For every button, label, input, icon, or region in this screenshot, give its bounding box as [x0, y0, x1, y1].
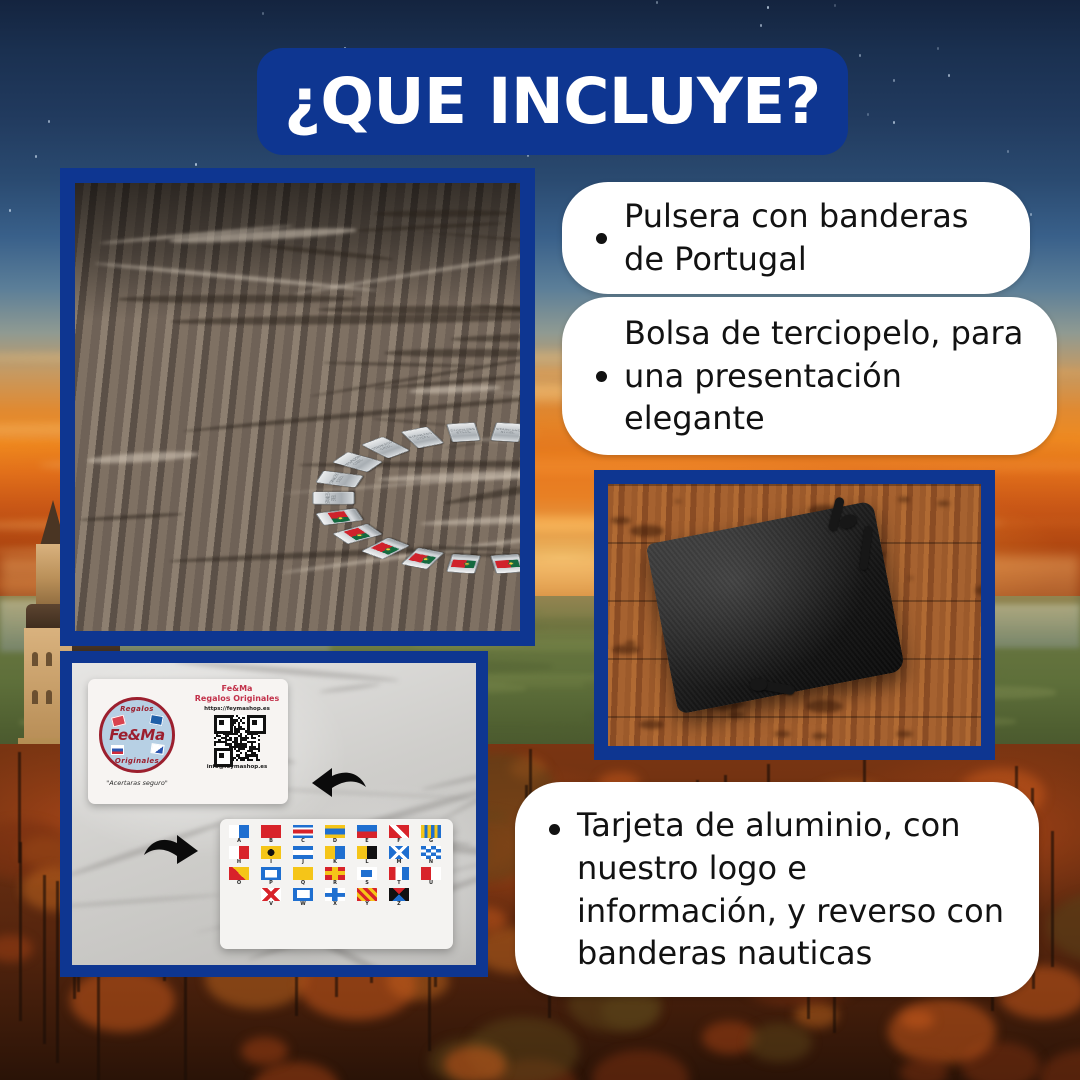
link-engraving: STAINLESS STEEL — [449, 428, 477, 435]
flag-symbol — [293, 867, 313, 880]
flag-letter: P — [269, 881, 273, 886]
bullet-text-card: Tarjeta de aluminio, con nuestro logo e … — [577, 804, 1013, 974]
flag-symbol — [325, 825, 345, 838]
portugal-flag-icon — [408, 553, 436, 564]
flag-cell-g: G — [417, 825, 445, 844]
flag-row: OPQRSTU — [225, 867, 448, 886]
star-icon — [834, 4, 836, 7]
flag-symbol — [389, 825, 409, 838]
lima-flag-icon — [357, 846, 377, 859]
flag-cell-u: U — [417, 867, 445, 886]
flag-symbol — [325, 867, 345, 880]
flag-letter: E — [365, 839, 368, 844]
flag-letter: M — [397, 860, 402, 865]
alfa-flag-icon — [229, 825, 249, 838]
bracelet-link — [400, 548, 444, 570]
flag-cell-j: J — [289, 846, 317, 865]
bullet-dot — [549, 824, 560, 835]
qr-module — [247, 737, 249, 739]
qr-module — [258, 739, 260, 741]
uniform-flag-icon — [421, 867, 441, 880]
qr-module — [258, 750, 260, 752]
flag-cell-w: W — [289, 888, 317, 907]
wood-grain — [384, 349, 520, 358]
india-flag-icon — [261, 846, 281, 859]
kilo-flag-icon — [325, 846, 345, 859]
link-engraving: STAINLESS STEEL — [493, 428, 520, 435]
star-icon — [1007, 150, 1009, 153]
golf-flag-icon — [421, 825, 441, 838]
qr-module — [242, 717, 244, 719]
leaf-clump — [592, 1050, 689, 1080]
photo-frame-card[interactable]: Regalos Fe&Ma Originales "Acertaras segu… — [60, 651, 488, 977]
wood-grain — [374, 209, 511, 217]
flag-symbol — [229, 846, 249, 859]
star-icon — [9, 209, 11, 212]
flag-symbol — [293, 888, 313, 901]
qr-module — [242, 748, 244, 750]
flag-letter: Y — [365, 902, 369, 907]
flag-letter: T — [397, 881, 400, 886]
wood-knot — [675, 500, 681, 502]
flag-cell-x: X — [321, 888, 349, 907]
logo-name: Fe&Ma — [109, 726, 164, 744]
flag-cell-b: B — [257, 825, 285, 844]
leaf-clump — [747, 1023, 812, 1062]
flag-letter: Q — [301, 881, 305, 886]
arrow-right-icon — [140, 829, 202, 867]
business-card-brand-line1: Fe&Ma — [222, 684, 253, 694]
flag-letter: G — [429, 839, 433, 844]
business-card-brand-line2: Regalos Originales — [195, 694, 279, 704]
wood-grain — [117, 295, 356, 304]
flag-symbol — [293, 825, 313, 838]
logo-bottom-arc: Originales — [102, 757, 172, 765]
flag-letter: N — [429, 860, 433, 865]
qr-module — [242, 759, 244, 761]
wood-knot — [639, 720, 664, 729]
flag-cell-q: Q — [289, 867, 317, 886]
bracelet-link: STAINLESS STEEL — [361, 436, 410, 458]
bracelet-link: STAINLESS STEEL — [446, 422, 481, 442]
leaf-clump — [241, 1037, 288, 1065]
page-title: ¿QUE INCLUYE? — [284, 70, 820, 133]
flag-letter: I — [270, 860, 272, 865]
tree-trunk — [43, 875, 46, 1043]
card-photo: Regalos Fe&Ma Originales "Acertaras segu… — [72, 663, 476, 965]
juliett-flag-icon — [293, 846, 313, 859]
star-icon — [867, 113, 869, 116]
logo-mini-flag-tricolor — [111, 745, 124, 755]
link-engraving: STAINLESS STEEL — [371, 441, 399, 453]
flag-cell-r: R — [321, 867, 349, 886]
business-card-url: https://feymashop.es — [204, 706, 270, 712]
flag-letter: C — [301, 839, 305, 844]
marble-vein — [319, 682, 381, 694]
flag-row: HIJKLMN — [225, 846, 448, 865]
flag-letter: L — [365, 860, 368, 865]
qr-module — [258, 759, 260, 761]
wood-knot — [612, 645, 640, 655]
qr-module — [236, 759, 238, 761]
november-flag-icon — [421, 846, 441, 859]
flag-cell-d: D — [321, 825, 349, 844]
flag-symbol — [261, 867, 281, 880]
wood-grain — [94, 261, 378, 293]
wood-knot — [748, 519, 754, 521]
flag-cell-t: T — [385, 867, 413, 886]
bullet-pill-pouch: Bolsa de terciopelo, para una presentaci… — [562, 297, 1057, 455]
flag-letter: S — [365, 881, 369, 886]
flag-cell-f: F — [385, 825, 413, 844]
portugal-flag-icon — [343, 528, 370, 541]
tree-trunk — [1051, 831, 1054, 966]
flag-letter: F — [397, 839, 400, 844]
victor-flag-icon — [261, 888, 281, 901]
wood-knot — [812, 733, 828, 739]
business-card-info-side: Fe&Ma Regalos Originales https://feymash… — [186, 679, 288, 804]
arrow-left-icon — [308, 763, 370, 801]
qr-finder-pattern — [247, 715, 266, 734]
flag-symbol — [357, 825, 377, 838]
wood-grain — [260, 243, 394, 262]
qr-module — [240, 752, 242, 754]
flag-symbol — [357, 888, 377, 901]
wood-knot — [806, 700, 843, 713]
leaf-clump — [0, 935, 33, 962]
flag-cell-p: P — [257, 867, 285, 886]
wood-grain — [356, 221, 501, 232]
infographic-canvas: ¿QUE INCLUYE? STAINLESS STEELSTAINLESS S… — [0, 0, 1080, 1080]
flag-cell-y: Y — [353, 888, 381, 907]
qr-code-icon — [214, 715, 260, 761]
quebec-flag-icon — [293, 867, 313, 880]
flag-cell-o: O — [225, 867, 253, 886]
flag-letter: D — [333, 839, 337, 844]
leaf-clump — [1039, 1049, 1080, 1080]
flag-letter: K — [333, 860, 337, 865]
logo-mini-flag-scotland — [149, 713, 164, 725]
leaf-clump — [888, 999, 996, 1064]
bracelet-link: STAINLESS STEEL — [400, 426, 444, 448]
wood-knot — [774, 731, 791, 737]
flag-symbol — [261, 846, 281, 859]
flag-cell-c: C — [289, 825, 317, 844]
xray-flag-icon — [325, 888, 345, 901]
wood-grain — [323, 361, 479, 367]
flag-cell-s: S — [353, 867, 381, 886]
link-engraving: STAINLESS STEEL — [329, 473, 348, 486]
pouch-photo — [608, 484, 981, 746]
bracelet-photo: STAINLESS STEELSTAINLESS STEELSTAINLESS … — [75, 183, 520, 631]
flag-symbol — [421, 846, 441, 859]
flag-symbol — [261, 888, 281, 901]
wood-knot — [937, 501, 950, 505]
zulu-flag-icon — [389, 888, 409, 901]
flag-symbol — [421, 867, 441, 880]
star-icon — [948, 74, 950, 77]
qr-module — [253, 741, 255, 743]
photo-frame-bracelet[interactable]: STAINLESS STEELSTAINLESS STEELSTAINLESS … — [60, 168, 535, 646]
flag-cell-i: I — [257, 846, 285, 865]
business-card-tagline: "Acertaras seguro" — [106, 779, 168, 787]
flag-symbol — [325, 846, 345, 859]
flag-symbol — [389, 846, 409, 859]
wood-grain — [171, 312, 520, 325]
wood-knot — [975, 584, 981, 597]
logo-top-arc: Regalos — [102, 705, 172, 713]
star-icon — [656, 1, 658, 4]
sierra-flag-icon — [357, 867, 377, 880]
flag-cell-e: E — [353, 825, 381, 844]
flag-cell-a: A — [225, 825, 253, 844]
romeo-flag-icon — [325, 867, 345, 880]
delta-flag-icon — [325, 825, 345, 838]
leaf-clump — [444, 1046, 506, 1080]
femma-logo: Regalos Fe&Ma Originales — [99, 697, 175, 773]
flag-cell-z: Z — [385, 888, 413, 907]
star-icon — [767, 6, 769, 9]
flag-symbol — [293, 846, 313, 859]
mike-flag-icon — [389, 846, 409, 859]
leaf-clump — [901, 1010, 933, 1029]
wood-grain — [424, 231, 520, 253]
flag-row: VWXYZ — [225, 888, 448, 907]
flag-symbol — [389, 888, 409, 901]
wood-grain — [80, 512, 183, 522]
bullet-pill-bracelet: Pulsera con banderas de Portugal — [562, 182, 1030, 294]
bracelet-link — [315, 508, 363, 525]
flag-cell-h: H — [225, 846, 253, 865]
flag-letter: R — [333, 881, 337, 886]
flag-cell-l: L — [353, 846, 381, 865]
flag-cell-k: K — [321, 846, 349, 865]
qr-finder-pattern — [214, 715, 233, 734]
flag-letter: W — [300, 902, 306, 907]
wood-knot — [625, 641, 636, 645]
logo-mini-flag-white-blue — [150, 743, 164, 755]
star-icon — [893, 121, 895, 124]
leaf-clump — [70, 969, 175, 1032]
flag-letter: O — [237, 881, 241, 886]
wood-knot — [896, 731, 913, 737]
bullet-dot — [596, 371, 607, 382]
qr-module — [234, 722, 236, 724]
bullet-dot — [596, 233, 607, 244]
star-icon — [262, 12, 264, 15]
echo-flag-icon — [357, 825, 377, 838]
portugal-flag-icon — [451, 560, 476, 569]
whiskey-flag-icon — [293, 888, 313, 901]
qr-module — [242, 722, 244, 724]
foxtrot-flag-icon — [389, 825, 409, 838]
qr-module — [214, 737, 216, 739]
portugal-flag-icon — [494, 560, 519, 569]
flag-letter: V — [269, 902, 273, 907]
qr-finder-pattern — [214, 748, 233, 767]
star-icon — [195, 163, 197, 166]
wood-grain — [87, 449, 199, 464]
marble-vein — [421, 737, 476, 792]
business-card-logo-side: Regalos Fe&Ma Originales "Acertaras segu… — [88, 679, 186, 804]
qr-module — [245, 746, 247, 748]
bracelet-link: STAINLESS STEEL — [332, 452, 383, 473]
page-title-banner: ¿QUE INCLUYE? — [257, 48, 848, 155]
flag-symbol — [229, 825, 249, 838]
qr-module — [253, 737, 255, 739]
flag-symbol — [389, 867, 409, 880]
flag-letter: J — [302, 860, 304, 865]
pouch-drawstring-knot-bottom — [750, 678, 767, 691]
star-icon — [859, 54, 861, 57]
marble-vein — [72, 894, 221, 911]
star-icon — [760, 24, 762, 27]
flag-cell-v: V — [257, 888, 285, 907]
leaf-clump — [794, 1002, 838, 1029]
bracelet-link: STAINLESS STEEL — [315, 470, 363, 487]
link-engraving: STAINLESS STEEL — [326, 492, 338, 504]
portugal-flag-icon — [327, 511, 350, 523]
star-icon — [48, 120, 50, 123]
flag-symbol — [357, 867, 377, 880]
qr-module — [251, 759, 253, 761]
bullet-text-pouch: Bolsa de terciopelo, para una presentaci… — [624, 312, 1031, 440]
flag-cell-n: N — [417, 846, 445, 865]
bullet-text-bracelet: Pulsera con banderas de Portugal — [624, 195, 1004, 280]
charlie-flag-icon — [293, 825, 313, 838]
link-engraving: STAINLESS STEEL — [407, 432, 436, 441]
qr-module — [258, 735, 260, 737]
bracelet-link — [332, 524, 383, 545]
tree-trunk — [56, 881, 59, 1063]
wood-knot — [630, 525, 664, 537]
papa-flag-icon — [261, 867, 281, 880]
flag-symbol — [357, 846, 377, 859]
wood-knot — [898, 497, 910, 501]
flag-row: ABCDEFG — [225, 825, 448, 844]
star-icon — [1030, 213, 1032, 216]
bracelet-link — [446, 554, 481, 574]
link-engraving: STAINLESS STEEL — [344, 455, 368, 468]
flag-symbol — [325, 888, 345, 901]
flag-letter: B — [269, 839, 273, 844]
bravo-flag-icon — [261, 825, 281, 838]
bracelet-link: STAINLESS STEEL — [312, 492, 354, 505]
bullet-pill-card: Tarjeta de aluminio, con nuestro logo e … — [515, 782, 1039, 997]
flag-letter: U — [429, 881, 433, 886]
business-card: Regalos Fe&Ma Originales "Acertaras segu… — [88, 679, 288, 804]
flag-symbol — [421, 825, 441, 838]
star-icon — [35, 155, 37, 158]
bracelet-link: STAINLESS STEEL — [489, 422, 520, 442]
wood-grain — [451, 331, 520, 343]
photo-frame-pouch[interactable] — [594, 470, 995, 760]
tango-flag-icon — [389, 867, 409, 880]
star-icon — [937, 47, 939, 50]
oscar-flag-icon — [229, 867, 249, 880]
flag-cell-m: M — [385, 846, 413, 865]
flag-letter: A — [237, 839, 241, 844]
flag-symbol — [261, 825, 281, 838]
wood-knot — [727, 712, 745, 718]
wood-knot — [611, 517, 631, 524]
flag-symbol — [229, 867, 249, 880]
flag-letter: X — [333, 902, 337, 907]
star-icon — [893, 79, 895, 82]
wood-knot — [907, 577, 914, 579]
flag-letter: Z — [397, 902, 401, 907]
portugal-flag-icon — [371, 542, 400, 554]
tree-trunk — [19, 842, 22, 1021]
nautical-flags-card: ABCDEFGHIJKLMNOPQRSTUVWXYZ — [220, 819, 453, 949]
hotel-flag-icon — [229, 846, 249, 859]
flag-letter: H — [237, 860, 241, 865]
qr-module — [214, 743, 216, 745]
yankee-flag-icon — [357, 888, 377, 901]
bracelet-link — [489, 554, 520, 574]
